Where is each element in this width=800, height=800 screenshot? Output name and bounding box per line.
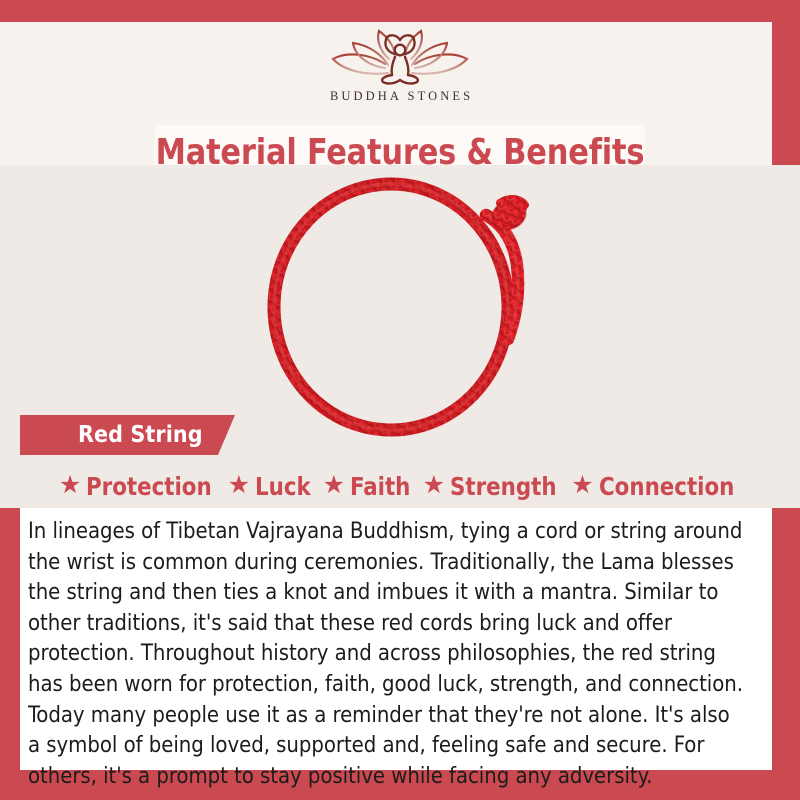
poster-header: BUDDHA STONES Material Features & Benefi… xyxy=(0,22,800,165)
lotus-meditation-figure-icon xyxy=(325,26,475,88)
ribbon-label: Red String xyxy=(78,422,203,448)
red-string-ribbon: Red String xyxy=(20,415,235,455)
benefit-label: Connection xyxy=(599,472,734,501)
star-icon: ★ xyxy=(571,473,593,498)
benefit-item-protection: ★ Protection xyxy=(59,472,219,501)
top-accent-bar xyxy=(0,0,800,22)
star-icon: ★ xyxy=(59,473,81,498)
material-features-poster: BUDDHA STONES Material Features & Benefi… xyxy=(0,0,800,800)
benefit-label: Luck xyxy=(255,472,311,501)
brand-logo: BUDDHA STONES xyxy=(0,22,800,104)
benefit-label: Faith xyxy=(350,472,410,501)
product-photo-area xyxy=(0,165,800,508)
benefit-item-faith: ★ Faith xyxy=(323,472,414,501)
description-panel: In lineages of Tibetan Vajrayana Buddhis… xyxy=(20,508,772,770)
description-text: In lineages of Tibetan Vajrayana Buddhis… xyxy=(28,516,745,791)
benefit-label: Protection xyxy=(86,472,212,501)
benefit-item-strength: ★ Strength xyxy=(423,472,563,501)
star-icon: ★ xyxy=(228,473,250,498)
benefit-item-connection: ★ Connection xyxy=(571,472,741,501)
star-icon: ★ xyxy=(323,473,345,498)
benefit-item-luck: ★ Luck xyxy=(228,472,314,501)
star-icon: ★ xyxy=(423,473,445,498)
red-braided-string-bracelet xyxy=(228,167,568,442)
benefit-label: Strength xyxy=(450,472,557,501)
brand-name: BUDDHA STONES xyxy=(0,89,800,104)
benefits-row: ★ Protection ★ Luck ★ Faith ★ Strength ★… xyxy=(0,466,800,506)
